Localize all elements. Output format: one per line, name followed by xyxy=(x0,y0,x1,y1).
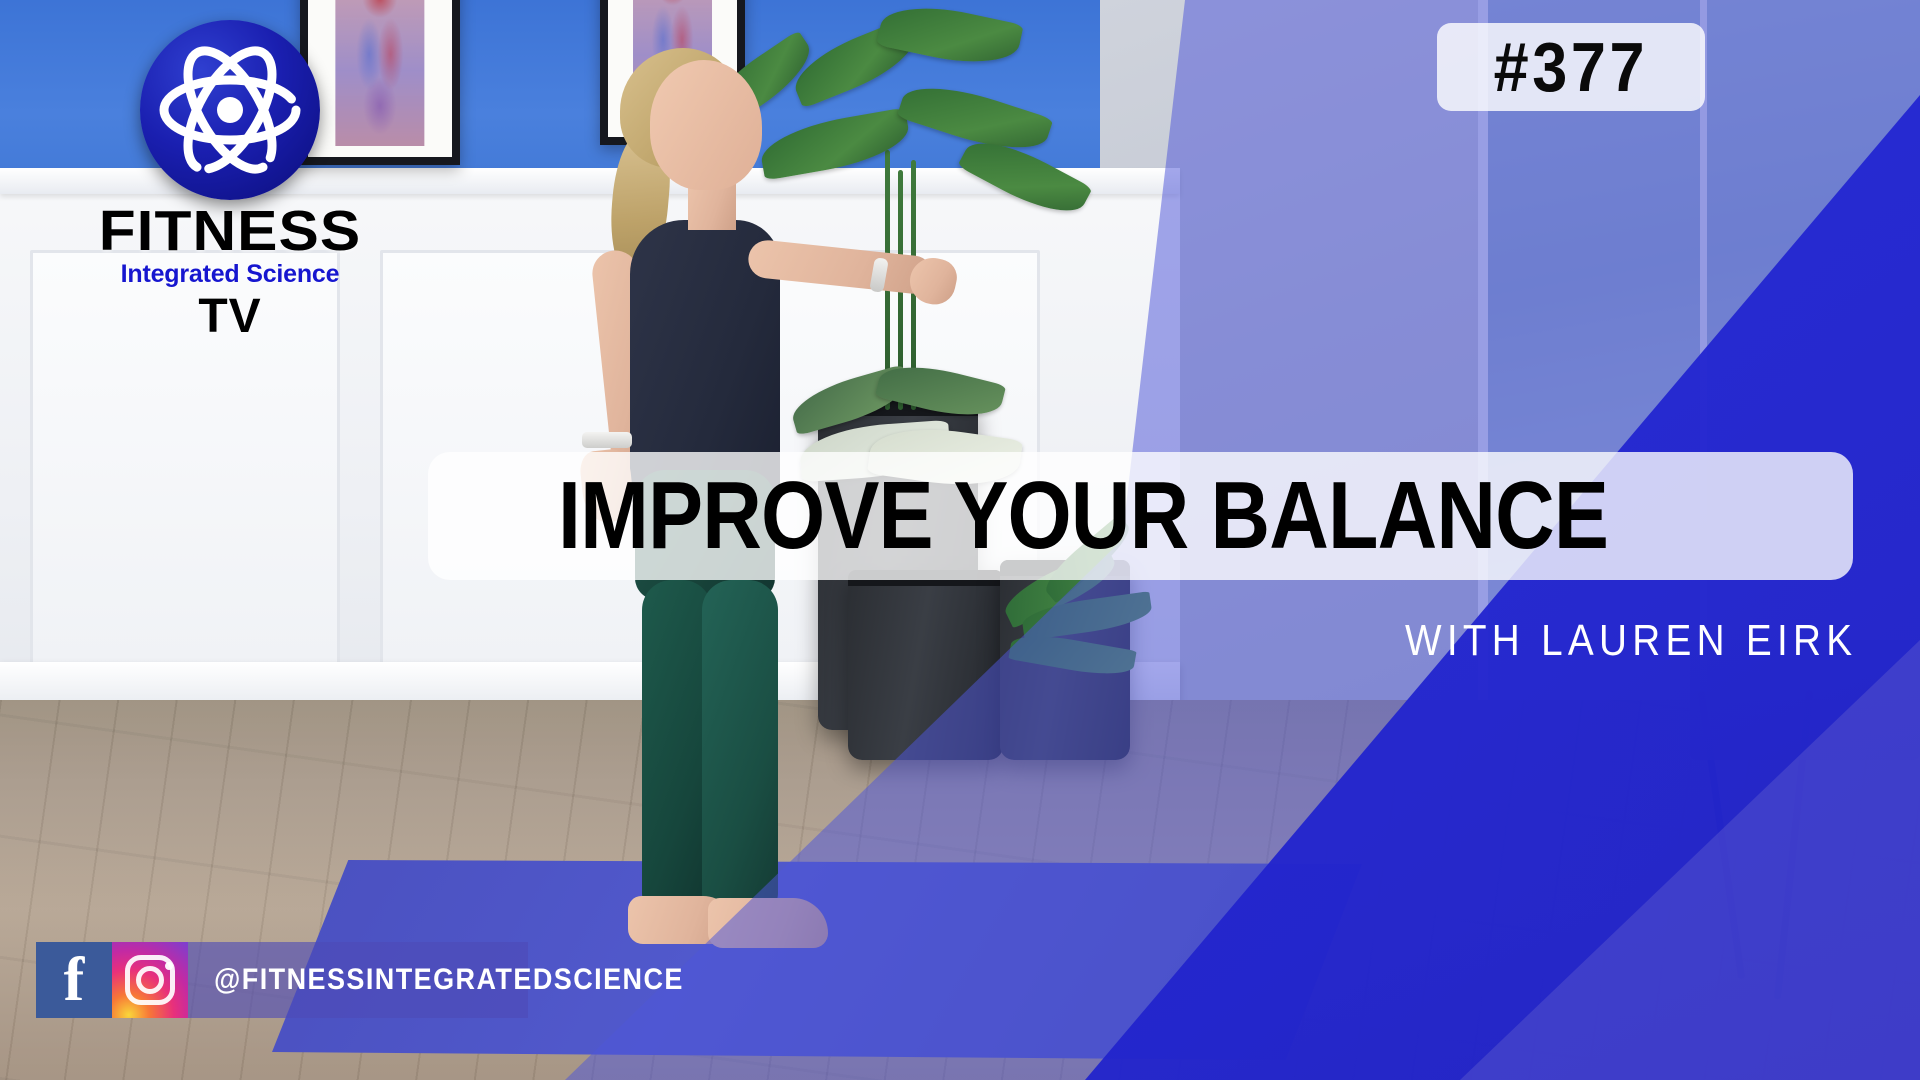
brand-tagline: Integrated Science xyxy=(95,260,365,289)
title-banner: IMPROVE YOUR BALANCE xyxy=(428,452,1853,580)
channel-logo[interactable]: FITNESS Integrated Science TV xyxy=(95,20,365,370)
social-handle-text: @FITNESSINTEGRATEDSCIENCE xyxy=(214,963,684,997)
video-subtitle: WITH LAUREN EIRK xyxy=(1405,616,1792,674)
social-handle-bar[interactable]: f @FITNESSINTEGRATEDSCIENCE xyxy=(36,942,528,1018)
episode-number-badge: #377 xyxy=(1437,23,1705,111)
video-title: IMPROVE YOUR BALANCE xyxy=(558,468,1608,564)
instagram-lens xyxy=(136,966,164,994)
facebook-f-glyph: f xyxy=(36,949,112,1011)
facebook-icon[interactable]: f xyxy=(36,942,112,1018)
episode-number: #377 xyxy=(1494,32,1649,102)
atom-icon xyxy=(140,20,320,200)
video-thumbnail: FITNESS Integrated Science TV #377 IMPRO… xyxy=(0,0,1920,1080)
brand-name-fitness: FITNESS xyxy=(87,204,373,258)
instagram-icon[interactable] xyxy=(112,942,188,1018)
instagram-dot xyxy=(165,962,173,970)
brand-name-tv: TV xyxy=(95,289,365,344)
